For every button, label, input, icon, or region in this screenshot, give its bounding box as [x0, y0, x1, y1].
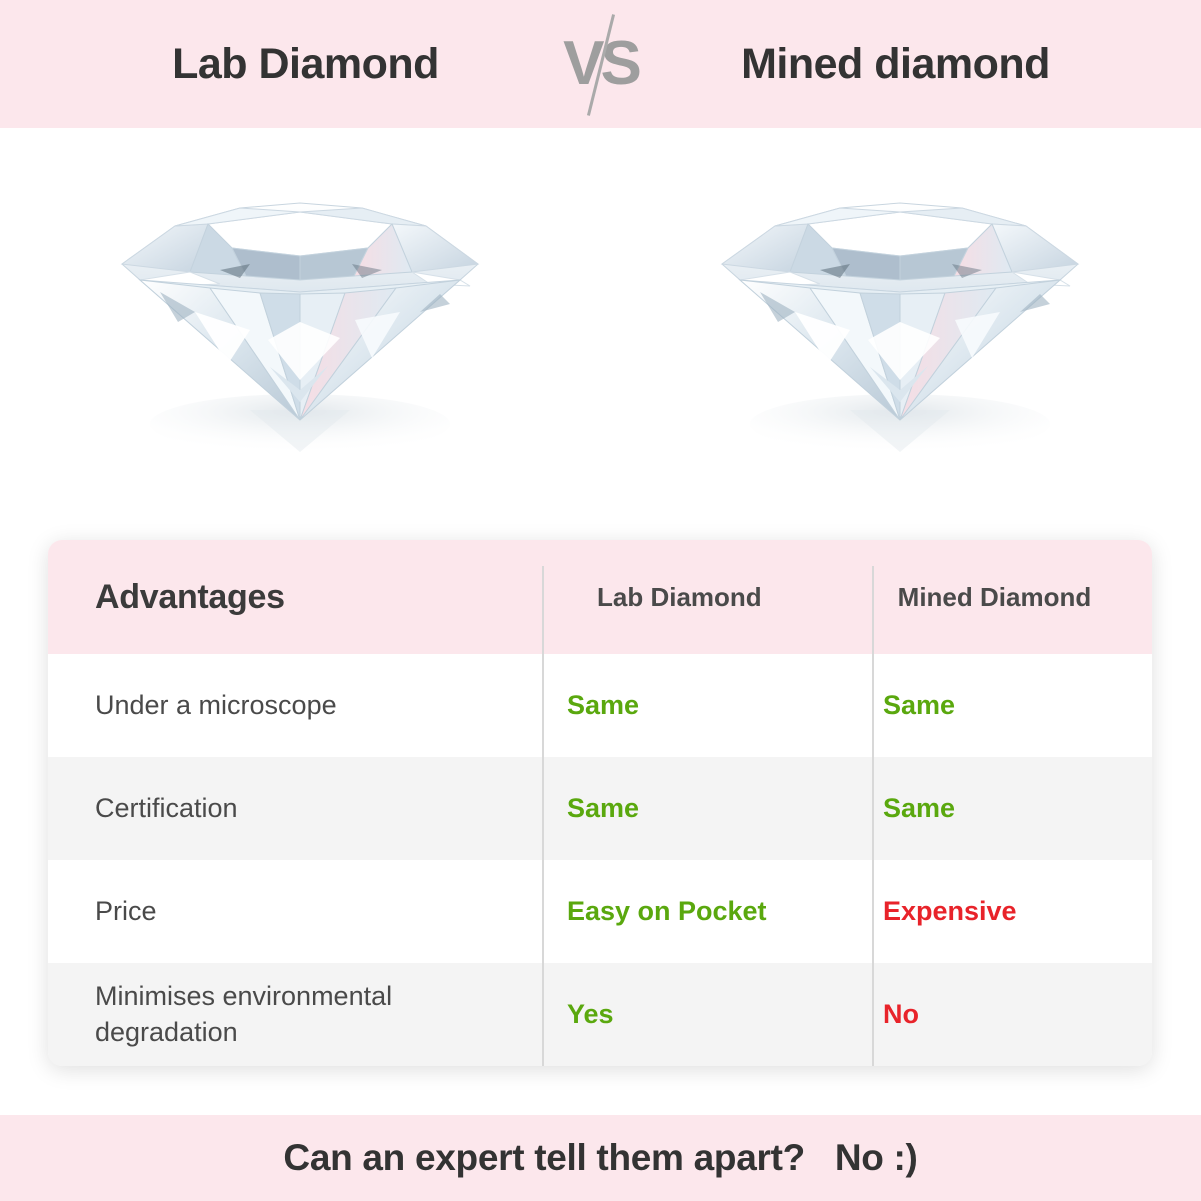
column-divider-1 [542, 654, 544, 757]
right-diamond-cell [600, 128, 1200, 528]
column-divider-2 [872, 566, 874, 654]
column-divider-2 [872, 757, 874, 860]
top-banner: Lab Diamond VS Mined diamond [0, 0, 1201, 128]
table-row: Under a microscope Same Same [48, 654, 1152, 757]
footer-question: Can an expert tell them apart? No :) [283, 1137, 917, 1179]
row-label: Under a microscope [48, 688, 520, 724]
comparison-table-card: Advantages Lab Diamond Mined Diamond Und… [48, 540, 1152, 1066]
table-row: Certification Same Same [48, 757, 1152, 860]
comparison-table: Advantages Lab Diamond Mined Diamond Und… [48, 540, 1152, 1066]
column-header-advantages: Advantages [48, 575, 522, 620]
lab-diamond-image [100, 152, 500, 472]
footer-banner: Can an expert tell them apart? No :) [0, 1115, 1201, 1201]
left-diamond-cell [0, 128, 600, 528]
column-divider-2 [872, 860, 874, 963]
table-row: Minimises environmental degradation Yes … [48, 963, 1152, 1066]
row-value-lab: Same [520, 793, 836, 824]
row-value-lab: Easy on Pocket [520, 896, 836, 927]
table-row: Price Easy on Pocket Expensive [48, 860, 1152, 963]
row-label: Certification [48, 791, 520, 827]
left-title: Lab Diamond [71, 40, 541, 89]
row-value-lab: Yes [520, 999, 836, 1030]
column-header-mined-diamond: Mined Diamond [837, 582, 1152, 613]
mined-diamond-image [700, 152, 1100, 472]
row-value-mined: Expensive [836, 896, 1152, 927]
vs-badge: VS [541, 0, 661, 128]
column-divider-1 [542, 860, 544, 963]
column-divider-1 [542, 757, 544, 860]
row-value-mined: Same [836, 793, 1152, 824]
row-label: Minimises environmental degradation [48, 979, 520, 1050]
column-divider-2 [872, 654, 874, 757]
diamond-image-row [0, 128, 1201, 528]
row-value-mined: Same [836, 690, 1152, 721]
column-header-lab-diamond: Lab Diamond [522, 582, 837, 613]
row-label: Price [48, 894, 520, 930]
column-divider-1 [542, 566, 544, 654]
row-value-mined: No [836, 999, 1152, 1030]
row-value-lab: Same [520, 690, 836, 721]
table-header-row: Advantages Lab Diamond Mined Diamond [48, 540, 1152, 654]
column-divider-1 [542, 963, 544, 1066]
right-title: Mined diamond [661, 40, 1131, 89]
column-divider-2 [872, 963, 874, 1066]
